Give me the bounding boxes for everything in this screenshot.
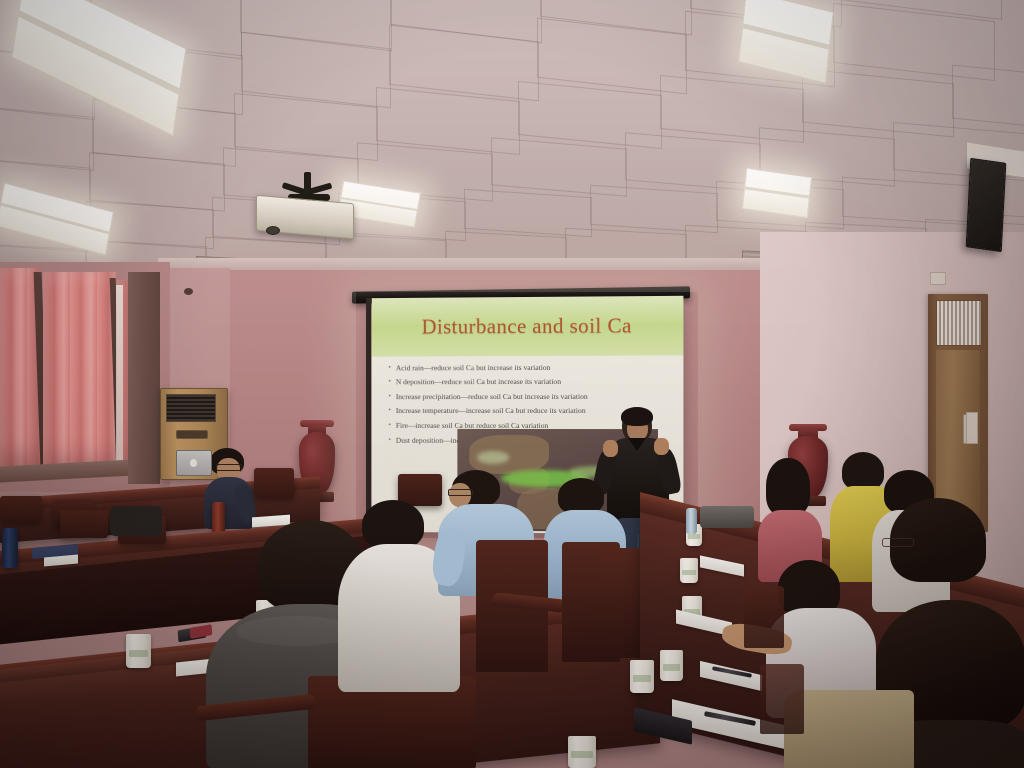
laptop-apple-logo-icon [190, 459, 197, 467]
wall-column [128, 272, 160, 484]
bullet-marker-icon: • [389, 433, 391, 446]
attendee-glasses-icon [448, 489, 473, 496]
attendee-hair [766, 458, 810, 516]
bag-dark-on-chair [110, 506, 162, 536]
chair-back-1[interactable] [0, 496, 42, 522]
air-conditioner-grill [166, 394, 216, 422]
slide-title-band: Disturbance and soil Ca [372, 296, 684, 357]
speaker-icon [966, 158, 1007, 252]
thermos-blue [2, 528, 18, 568]
map-dust-plume-source [478, 451, 510, 463]
water-bottle [686, 508, 697, 534]
bullet-marker-icon: • [389, 361, 391, 374]
wall-switch-plate[interactable] [966, 412, 978, 444]
ceiling-camera [184, 288, 193, 295]
bullet-text: Increase precipitation—reduce soil Ca bu… [396, 390, 588, 405]
presenter-hair [621, 407, 653, 426]
cup-front-left-1 [126, 634, 151, 668]
bullet-text: N deposition—reduce soil Ca but increase… [396, 375, 561, 390]
wall-notice-card [930, 272, 946, 285]
attendee-hair [558, 478, 604, 514]
slide-bullet: • Increase precipitation—reduce soil Ca … [389, 390, 678, 405]
projector-lens [266, 226, 280, 235]
presenter-hand-left [603, 440, 618, 457]
attendee-glasses-icon [216, 464, 242, 471]
window-daylight-gap [116, 285, 123, 461]
bullet-text: Increase temperature—increase soil Ca bu… [396, 404, 586, 419]
bullet-marker-icon: • [389, 405, 391, 418]
attendee-hair [362, 500, 424, 550]
bullet-marker-icon: • [389, 419, 391, 432]
bullet-marker-icon: • [389, 390, 391, 403]
chair-front-left-1[interactable] [60, 510, 108, 538]
slide-bullet: • Acid rain—reduce soil Ca but increase … [389, 360, 678, 375]
slide-bullet: • N deposition—reduce soil Ca but increa… [389, 375, 678, 390]
cup-right-4 [660, 650, 683, 681]
chair-back-4[interactable] [254, 468, 294, 498]
bag-on-table [700, 506, 754, 528]
door-transom-window [936, 300, 982, 346]
cup-right-5 [630, 660, 654, 693]
presenter-hand-right [654, 438, 669, 455]
slide-title: Disturbance and soil Ca [422, 313, 632, 339]
bullet-marker-icon: • [389, 376, 391, 389]
attendee-glasses-icon [882, 538, 914, 547]
chair-right-2[interactable] [760, 664, 804, 734]
bullet-text: Acid rain—reduce soil Ca but increase it… [396, 361, 551, 376]
attendee-right-glasses [880, 520, 928, 580]
chair-right-1[interactable] [744, 586, 784, 648]
ceiling-soffit [158, 258, 768, 270]
curtain-center [43, 272, 116, 470]
cup-right-6 [568, 736, 596, 768]
conference-room-photo: Disturbance and soil Ca • Acid rain—redu… [0, 0, 1024, 768]
air-conditioner-vent [176, 430, 208, 439]
cup-right-2 [680, 558, 698, 583]
screen-left-edge [366, 298, 371, 530]
